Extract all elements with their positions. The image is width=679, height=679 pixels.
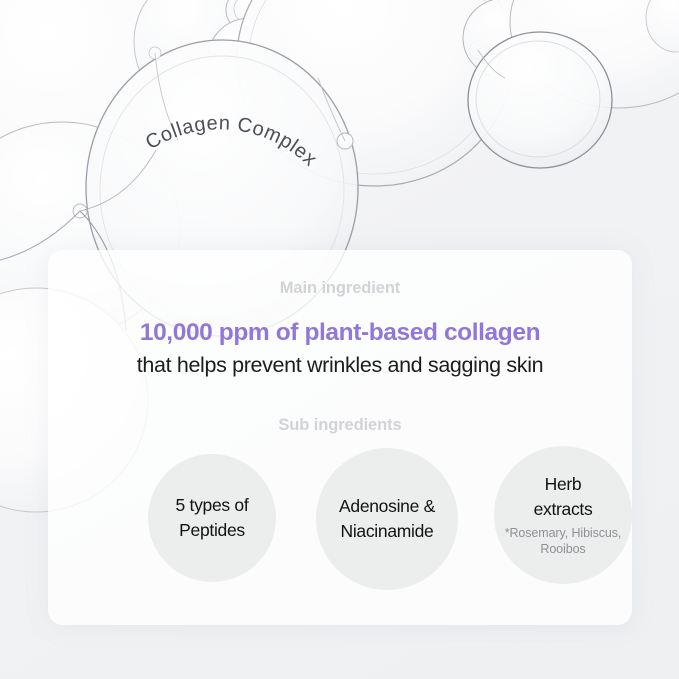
main-ingredient-subheadline: that helps prevent wrinkles and sagging … bbox=[48, 352, 632, 378]
sub-ingredient-circle-adenosine: Adenosine & Niacinamide bbox=[316, 448, 458, 590]
sub-ingredients-label: Sub ingredients bbox=[48, 417, 632, 434]
sub-ingredient-circle-peptides: 5 types of Peptides bbox=[148, 454, 276, 582]
sub-ingredient-name-line1: 5 types of bbox=[176, 493, 249, 518]
sub-ingredient-name-line2: Peptides bbox=[179, 518, 245, 543]
sub-ingredient-name-line1: Adenosine & bbox=[339, 494, 435, 519]
main-ingredient-headline: 10,000 ppm of plant-based collagen bbox=[48, 319, 632, 348]
main-ingredient-label: Main ingredient bbox=[48, 280, 632, 297]
sub-ingredient-name-line1: Herb bbox=[545, 472, 582, 497]
sub-ingredient-note: *Rosemary, Hibiscus, Rooibos bbox=[494, 525, 632, 558]
sub-ingredient-name-line2: Niacinamide bbox=[341, 519, 434, 544]
sub-ingredient-name-line2: extracts bbox=[534, 497, 593, 522]
sub-ingredient-circle-herb: Herb extracts *Rosemary, Hibiscus, Rooib… bbox=[494, 446, 632, 584]
collagen-complex-label: Collagen Complex bbox=[142, 112, 321, 171]
sub-ingredient-circle-row: 5 types of Peptides Adenosine & Niacinam… bbox=[48, 446, 632, 596]
ingredient-info-card: Main ingredient 10,000 ppm of plant-base… bbox=[48, 250, 632, 625]
product-ingredient-infographic: Collagen Complex Main ingredient 10,000 … bbox=[0, 0, 679, 679]
